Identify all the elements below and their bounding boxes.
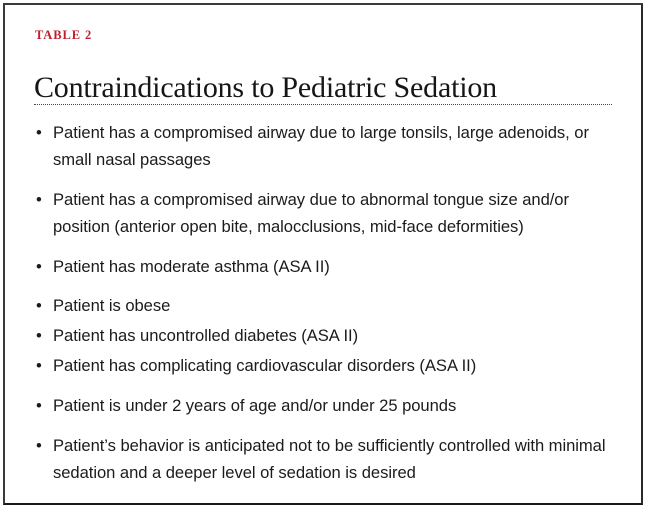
list-item: • Patient has a compromised airway due t… bbox=[34, 120, 619, 174]
list-item: • Patient has moderate asthma (ASA II) bbox=[34, 254, 619, 281]
list-item-text: Patient has uncontrolled diabetes (ASA I… bbox=[53, 323, 619, 350]
list-item: • Patient is under 2 years of age and/or… bbox=[34, 393, 619, 420]
dotted-divider bbox=[34, 104, 612, 105]
list-item-text: Patient is obese bbox=[53, 293, 619, 320]
table-frame: TABLE 2 Contraindications to Pediatric S… bbox=[3, 3, 643, 505]
bullet-icon: • bbox=[36, 120, 50, 147]
list-item-text: Patient has moderate asthma (ASA II) bbox=[53, 254, 619, 281]
table-number-label: TABLE 2 bbox=[35, 29, 92, 42]
list-item-text: Patient’s behavior is anticipated not to… bbox=[53, 433, 619, 487]
screenshot-root: TABLE 2 Contraindications to Pediatric S… bbox=[0, 0, 650, 512]
bullet-icon: • bbox=[36, 254, 50, 281]
list-item-text: Patient is under 2 years of age and/or u… bbox=[53, 393, 619, 420]
bullet-icon: • bbox=[36, 433, 50, 460]
bullet-icon: • bbox=[36, 393, 50, 420]
contraindications-list: • Patient has a compromised airway due t… bbox=[34, 120, 619, 487]
list-item-text: Patient has complicating cardiovascular … bbox=[53, 353, 619, 380]
list-item: • Patient is obese bbox=[34, 293, 619, 320]
list-item: • Patient has complicating cardiovascula… bbox=[34, 353, 619, 380]
bullet-icon: • bbox=[36, 293, 50, 320]
bullet-icon: • bbox=[36, 187, 50, 214]
bullet-icon: • bbox=[36, 353, 50, 380]
list-item-text: Patient has a compromised airway due to … bbox=[53, 187, 619, 241]
table-inner: TABLE 2 Contraindications to Pediatric S… bbox=[5, 5, 641, 503]
list-item-text: Patient has a compromised airway due to … bbox=[53, 120, 619, 174]
list-item: • Patient has uncontrolled diabetes (ASA… bbox=[34, 323, 619, 350]
list-item: • Patient’s behavior is anticipated not … bbox=[34, 433, 619, 487]
bullet-icon: • bbox=[36, 323, 50, 350]
list-item: • Patient has a compromised airway due t… bbox=[34, 187, 619, 241]
page-title: Contraindications to Pediatric Sedation bbox=[34, 72, 497, 104]
